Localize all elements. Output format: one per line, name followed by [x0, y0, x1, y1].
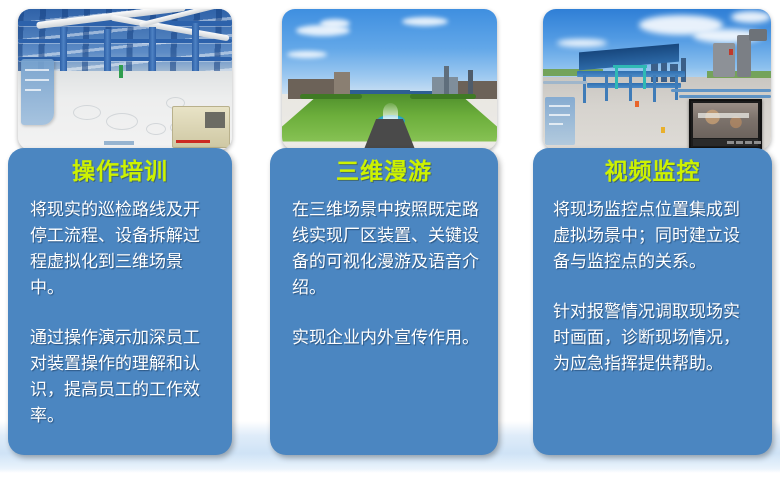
- card-paragraph: 将现实的巡检路线及开停工流程、设备拆解过程虚拟化到三维场景中。: [30, 197, 216, 301]
- card-paragraph: 实现企业内外宣传作用。: [292, 325, 482, 351]
- card-paragraph: 针对报警情况调取现场实时画面，诊断现场情况，为应急指挥提供帮助。: [553, 299, 756, 377]
- card-panel: 三维漫游 在三维场景中按照既定路线实现厂区装置、关键设备的可视化漫游及语音介绍。…: [270, 148, 498, 455]
- video-feed-overlay[interactable]: [689, 99, 762, 149]
- card-paragraph: 在三维场景中按照既定路线实现厂区装置、关键设备的可视化漫游及语音介绍。: [292, 197, 482, 301]
- card-title: 操作培训: [8, 157, 232, 187]
- thumbnail-campus-park: [282, 9, 497, 150]
- card-body: 在三维场景中按照既定路线实现厂区装置、关键设备的可视化漫游及语音介绍。 实现企业…: [270, 197, 498, 351]
- scene-plant-interior: [18, 9, 232, 150]
- video-control-bar[interactable]: [693, 139, 758, 146]
- card-panel: 视频监控 将现场监控点位置集成到虚拟场景中；同时建立设备与监控点的关系。 针对报…: [533, 148, 772, 455]
- card-title: 视频监控: [533, 157, 772, 187]
- slide-canvas: 操作培训 将现实的巡检路线及开停工流程、设备拆解过程虚拟化到三维场景中。 通过操…: [0, 0, 780, 491]
- scene-industrial-site: [543, 9, 771, 150]
- scene-campus-park: [282, 9, 497, 150]
- card-paragraph: 将现场监控点位置集成到虚拟场景中；同时建立设备与监控点的关系。: [553, 197, 756, 275]
- scene-info-panel: [21, 59, 54, 125]
- scene-equipment: [172, 106, 230, 148]
- thumbnail-industrial-site: [543, 9, 771, 150]
- card-panel: 操作培训 将现实的巡检路线及开停工流程、设备拆解过程虚拟化到三维场景中。 通过操…: [8, 148, 232, 455]
- video-feed-image: [693, 103, 758, 138]
- card-paragraph: 通过操作演示加深员工对装置操作的理解和认识，提高员工的工作效率。: [30, 325, 216, 429]
- thumbnail-plant-interior: [18, 9, 232, 150]
- scene-info-panel: [545, 97, 575, 145]
- card-body: 将现场监控点位置集成到虚拟场景中；同时建立设备与监控点的关系。 针对报警情况调取…: [533, 197, 772, 377]
- card-body: 将现实的巡检路线及开停工流程、设备拆解过程虚拟化到三维场景中。 通过操作演示加深…: [8, 197, 232, 429]
- card-title: 三维漫游: [270, 157, 498, 187]
